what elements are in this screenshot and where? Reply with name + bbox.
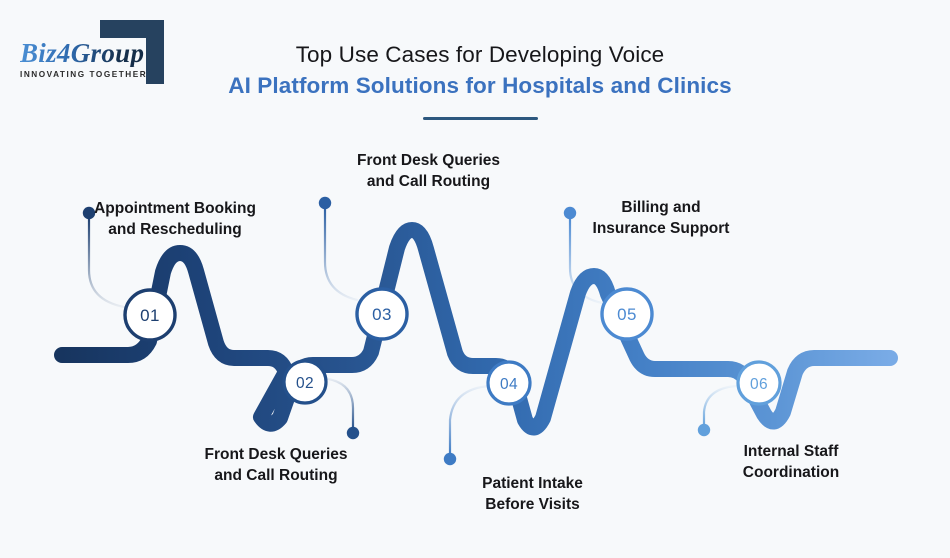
step-label-04: Patient Intake Before Visits [430,474,635,515]
connector-dot-06 [698,424,710,436]
step-label-02: Front Desk Queries and Call Routing [165,445,387,486]
step-node-02[interactable]: 02 [284,361,326,403]
connector-dot-03 [319,197,331,209]
step-number-01: 01 [140,306,160,325]
step-label-06: Internal Staff Coordination [690,442,892,483]
connector-03 [319,197,357,300]
step-number-03: 03 [372,305,392,324]
connector-02 [322,378,359,439]
step-node-03[interactable]: 03 [357,289,407,339]
connector-04 [444,386,489,465]
connector-dot-02 [347,427,359,439]
step-label-05: Billing and Insurance Support [561,198,761,239]
step-number-04: 04 [500,376,518,393]
step-node-06[interactable]: 06 [738,362,780,404]
step-number-05: 05 [617,305,637,324]
connector-dot-04 [444,453,456,465]
step-number-02: 02 [296,375,314,392]
connector-06 [698,386,735,436]
step-node-01[interactable]: 01 [125,290,175,340]
step-label-03: Front Desk Queries and Call Routing [311,151,546,192]
step-label-01: Appointment Booking and Rescheduling [40,199,310,240]
step-node-05[interactable]: 05 [602,289,652,339]
step-node-04[interactable]: 04 [488,362,530,404]
infographic-root: Biz4Group INNOVATING TOGETHER Top Use Ca… [0,0,950,558]
step-number-06: 06 [750,376,768,393]
